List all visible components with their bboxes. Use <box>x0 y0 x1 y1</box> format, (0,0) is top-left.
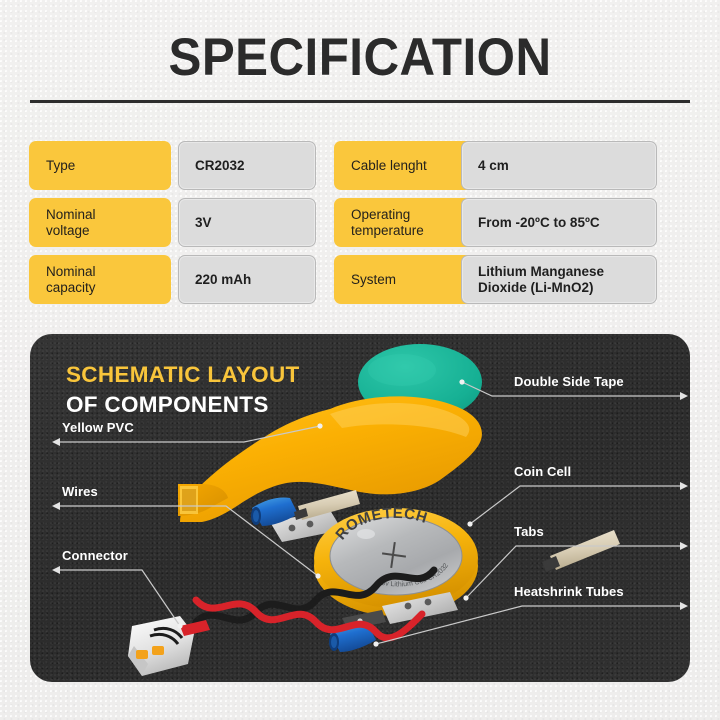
spec-label-operating-temperature: Operating temperature <box>334 198 476 247</box>
callout-label-double-side-tape: Double Side Tape <box>514 374 624 389</box>
spec-label-nominal-voltage: Nominal voltage <box>29 198 171 247</box>
jst-connector <box>128 616 210 676</box>
spec-value-type: CR2032 <box>178 141 316 190</box>
spec-label-cable-length: Cable lenght <box>334 141 476 190</box>
heatshrink-tube-beige-right <box>542 530 620 572</box>
callout-label-yellow-pvc: Yellow PVC <box>62 420 134 435</box>
page-title: SPECIFICATION <box>25 28 695 88</box>
spec-label-nominal-capacity: Nominal capacity <box>29 255 171 304</box>
spec-value-nominal-capacity: 220 mAh <box>178 255 316 304</box>
column-gap <box>311 141 312 190</box>
spec-value-cable-length: 4 cm <box>461 141 657 190</box>
coin-cell-shape: ROMETECH 3v Lithium Cell CR2032 <box>314 505 478 616</box>
specification-table: Type CR2032 Cable lenght 4 cm Nominal vo… <box>29 141 691 304</box>
spec-value-operating-temperature: From -20ºC to 85ºC <box>461 198 657 247</box>
callout-label-wires: Wires <box>62 484 98 499</box>
callout-label-connector: Connector <box>62 548 128 563</box>
spec-label-system: System <box>334 255 476 304</box>
title-divider <box>30 100 690 103</box>
spec-value-system: Lithium Manganese Dioxide (Li-MnO2) <box>461 255 657 304</box>
column-gap <box>311 198 312 247</box>
column-gap <box>311 255 312 304</box>
callout-label-tabs: Tabs <box>514 524 544 539</box>
spec-label-type: Type <box>29 141 171 190</box>
spec-value-nominal-voltage: 3V <box>178 198 316 247</box>
schematic-panel: SCHEMATIC LAYOUT OF COMPONENTS <box>30 334 690 682</box>
callout-label-coin-cell: Coin Cell <box>514 464 571 479</box>
callout-label-heatshrink-tubes: Heatshrink Tubes <box>514 584 624 599</box>
specification-page: SPECIFICATION Type CR2032 Cable lenght 4… <box>0 0 720 720</box>
